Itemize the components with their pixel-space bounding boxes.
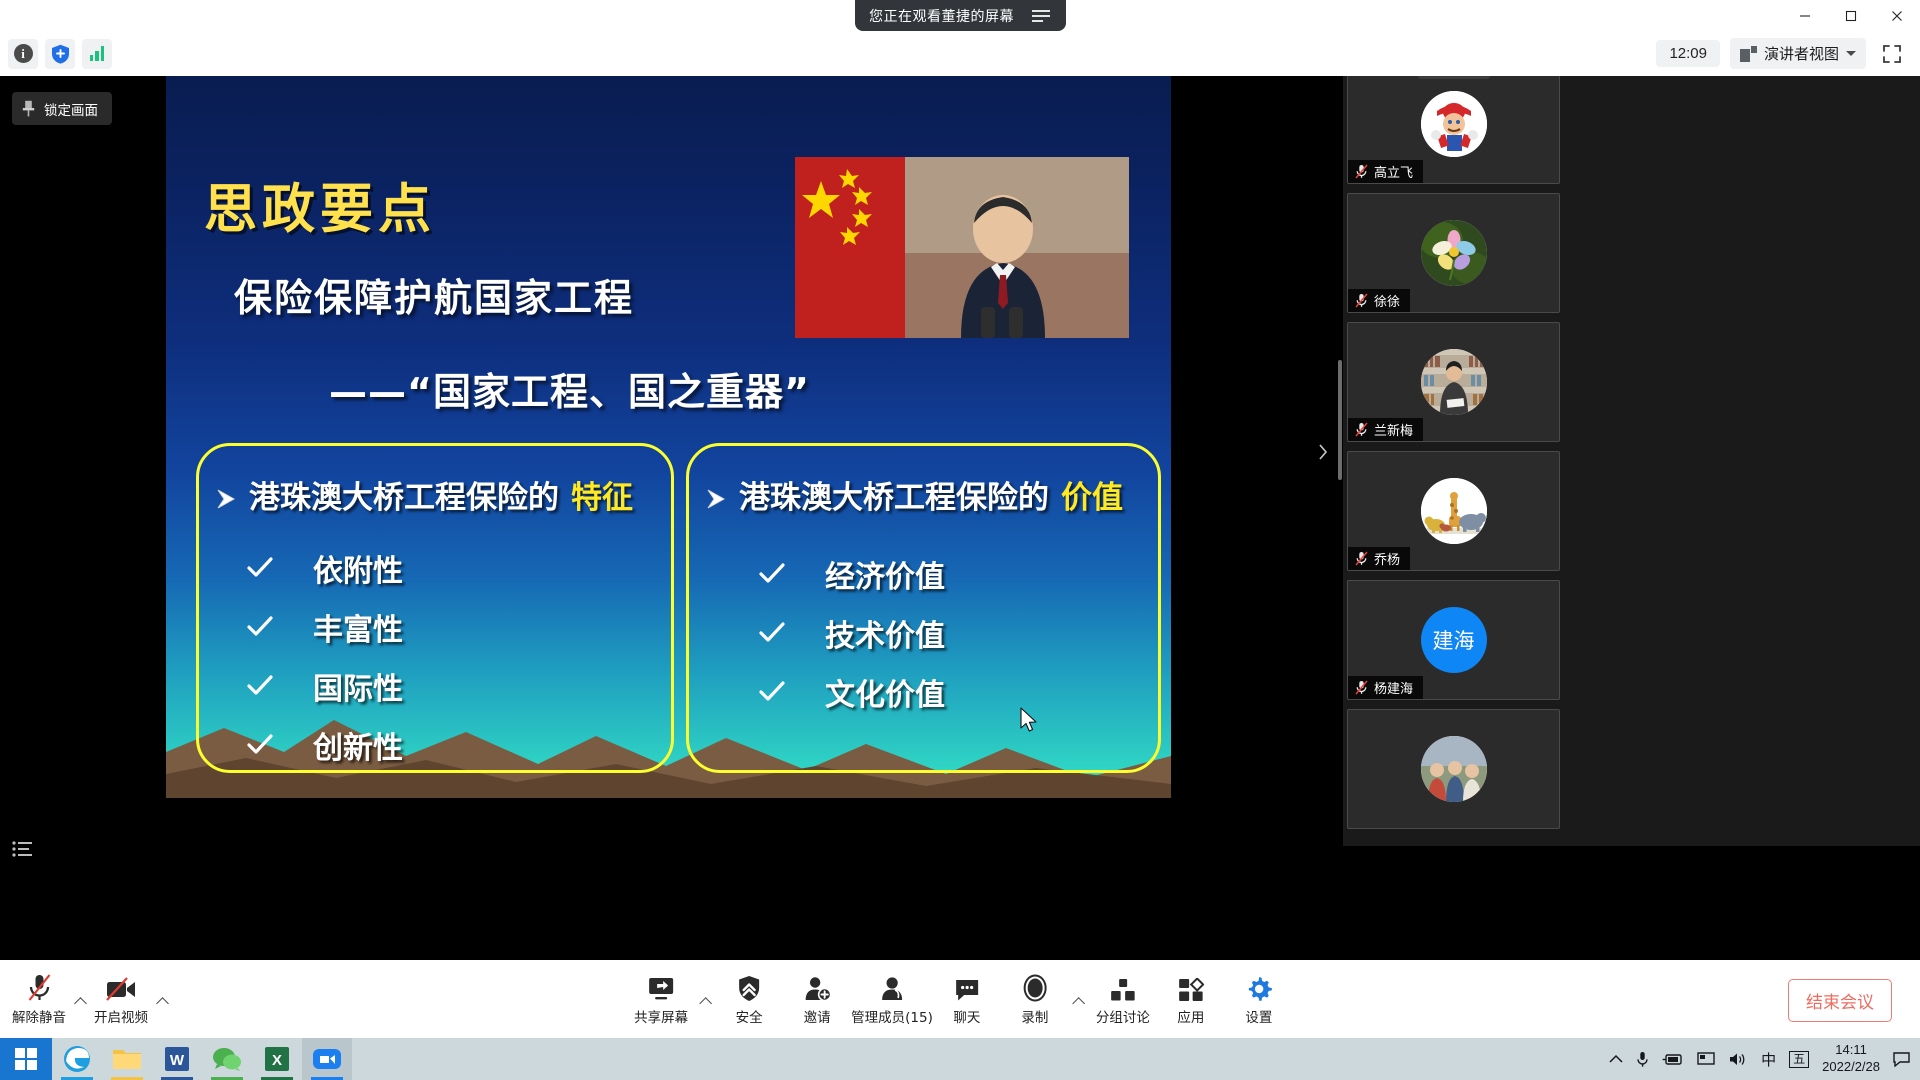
screen-share-banner: 您正在观看董捷的屏幕 [855, 0, 1066, 31]
check-icon [243, 674, 277, 698]
chevron-down-icon [1846, 51, 1856, 56]
participant-video-strip[interactable]: 高立飞 [1343, 60, 1920, 846]
box-heading-highlight: 特征 [571, 472, 633, 517]
participants-icon [879, 972, 905, 1002]
invite-label: 邀请 [804, 1006, 831, 1026]
meeting-control-bar: 解除静音 开启视频 [0, 960, 1920, 1038]
ime-mode-indicator[interactable]: 中 [1761, 1049, 1776, 1070]
box-heading: 港珠澳大桥工程保险的价值 [705, 472, 1123, 517]
check-icon [243, 733, 277, 757]
arrow-bullet-icon [705, 483, 727, 507]
group-photo-avatar [1421, 736, 1487, 802]
participant-name: 杨建海 [1374, 678, 1413, 697]
taskbar-apps: W X [52, 1038, 352, 1080]
record-label: 录制 [1021, 1006, 1048, 1026]
presentation-slide: 思政要点 保险保障护航国家工程 ——“国家工程、国之重器” [166, 63, 1171, 798]
show-hidden-icons[interactable] [1609, 1054, 1623, 1064]
participant-tile[interactable]: 建海 杨建海 [1347, 580, 1560, 700]
participant-name-badge: 杨建海 [1348, 676, 1423, 699]
participant-tile[interactable]: 乔杨 [1347, 451, 1560, 571]
svg-text:X: X [272, 1052, 282, 1069]
box-heading: 港珠澳大桥工程保险的特征 [215, 472, 633, 517]
control-bar-left: 解除静音 开启视频 [8, 968, 172, 1030]
settings-label: 设置 [1245, 1006, 1272, 1026]
participant-name-badge: 兰新梅 [1348, 418, 1423, 441]
participant-name-badge: 徐徐 [1348, 289, 1410, 312]
control-bar-center: 共享屏幕 安全 [627, 968, 1293, 1030]
share-screen-label: 共享屏幕 [634, 1006, 688, 1026]
speaker-view-icon [1740, 46, 1757, 62]
list-item-label: 创新性 [313, 723, 403, 767]
system-tray: 中 五 14:11 2022/2/28 [1609, 1042, 1920, 1076]
participant-strip-scrollbar[interactable] [1338, 360, 1342, 480]
record-options-caret[interactable] [1069, 968, 1089, 1030]
edge-icon[interactable] [52, 1038, 102, 1080]
breakout-rooms-button[interactable]: 分组讨论 [1089, 968, 1157, 1030]
invite-person-icon [804, 972, 831, 1002]
participant-tile[interactable] [1347, 709, 1560, 829]
box-heading-text: 港珠澳大桥工程保险的 [739, 472, 1049, 517]
settings-button[interactable]: 设置 [1225, 968, 1293, 1030]
gear-icon [1246, 972, 1272, 1002]
audio-options-caret[interactable] [70, 968, 90, 1030]
bookshelf-photo-avatar [1421, 349, 1487, 415]
mic-muted-icon [1355, 164, 1368, 179]
manage-participants-label: 管理成员(15) [851, 1006, 933, 1026]
invite-button[interactable]: 邀请 [783, 968, 851, 1030]
meeting-timer[interactable]: 12:09 [1656, 40, 1720, 67]
box-item-list: 经济价值 技术价值 文化价值 [755, 544, 945, 721]
shield-plus-icon[interactable] [45, 39, 75, 69]
apps-button[interactable]: 应用 [1157, 968, 1225, 1030]
mic-muted-icon [26, 972, 53, 1002]
fullscreen-icon[interactable] [1876, 39, 1908, 69]
minimize-icon[interactable] [1782, 0, 1828, 31]
ime-layout-indicator[interactable]: 五 [1789, 1051, 1809, 1068]
taskbar-clock[interactable]: 14:11 2022/2/28 [1822, 1042, 1880, 1076]
check-icon [755, 680, 789, 704]
chevron-up-icon [156, 997, 169, 1010]
start-video-label: 开启视频 [94, 1006, 148, 1026]
start-video-button[interactable]: 开启视频 [90, 968, 152, 1030]
security-button[interactable]: 安全 [715, 968, 783, 1030]
pin-icon [22, 100, 35, 117]
info-icon[interactable]: i [8, 39, 38, 69]
close-icon[interactable] [1874, 0, 1920, 31]
microphone-icon[interactable] [1636, 1051, 1649, 1068]
network-bars-icon[interactable] [82, 39, 112, 69]
excel-icon[interactable]: X [252, 1038, 302, 1080]
mic-muted-icon [1355, 422, 1368, 437]
share-banner-text: 您正在观看董捷的屏幕 [869, 6, 1014, 26]
share-options-caret[interactable] [695, 968, 715, 1030]
wechat-icon[interactable] [202, 1038, 252, 1080]
zoom-meeting-window: 您正在观看董捷的屏幕 i 12:09 [0, 0, 1920, 1080]
list-item: 经济价值 [755, 544, 945, 603]
hamburger-icon[interactable] [1020, 0, 1062, 31]
action-center-icon[interactable] [1893, 1052, 1910, 1067]
list-item-label: 文化价值 [825, 670, 945, 714]
chevron-right-icon[interactable] [1316, 432, 1330, 472]
slide-box-value: 港珠澳大桥工程保险的价值 经济价值 技术价值 [686, 443, 1161, 773]
list-item-label: 技术价值 [825, 611, 945, 655]
box-heading-text: 港珠澳大桥工程保险的 [249, 472, 559, 517]
info-glyph: i [14, 44, 33, 63]
zoom-icon[interactable] [302, 1038, 352, 1080]
display-icon[interactable] [1697, 1052, 1715, 1067]
check-icon [755, 562, 789, 586]
mic-muted-icon [1355, 293, 1368, 308]
view-mode-label: 演讲者视图 [1764, 43, 1839, 64]
battery-icon[interactable] [1662, 1053, 1684, 1066]
mic-muted-icon [1355, 551, 1368, 566]
breakout-rooms-label: 分组讨论 [1096, 1006, 1150, 1026]
participant-name: 徐徐 [1374, 291, 1400, 310]
video-options-caret[interactable] [152, 968, 172, 1030]
participant-name: 兰新梅 [1374, 420, 1413, 439]
chat-label: 聊天 [953, 1006, 980, 1026]
list-item: 国际性 [243, 656, 403, 715]
participant-name-badge: 高立飞 [1348, 160, 1423, 183]
meeting-top-toolbar: i 12:09 演讲者视图 [0, 31, 1920, 76]
box-heading-highlight: 价值 [1061, 472, 1123, 517]
clock-time: 14:11 [1822, 1042, 1880, 1059]
slide-box-features: 港珠澳大桥工程保险的特征 依附性 丰富性 [196, 443, 674, 773]
slide-content: 思政要点 保险保障护航国家工程 ——“国家工程、国之重器” [166, 63, 1171, 798]
apps-icon [1178, 972, 1204, 1002]
list-item: 技术价值 [755, 603, 945, 662]
window-controls [1782, 0, 1920, 31]
end-meeting-button[interactable]: 结束会议 [1788, 979, 1892, 1022]
record-button[interactable]: 录制 [1001, 968, 1069, 1030]
arrow-bullet-icon [215, 483, 237, 507]
list-item: 丰富性 [243, 597, 403, 656]
lock-screen-button[interactable]: 锁定画面 [12, 92, 112, 125]
participant-tile[interactable]: 高立飞 [1347, 64, 1560, 184]
top-toolbar-left: i [0, 39, 112, 69]
list-item: 创新性 [243, 715, 403, 774]
windows-taskbar: W X [0, 1038, 1920, 1080]
breakout-rooms-icon [1110, 972, 1136, 1002]
file-explorer-icon[interactable] [102, 1038, 152, 1080]
flower-avatar [1421, 220, 1487, 286]
share-screen-button[interactable]: 共享屏幕 [627, 968, 695, 1030]
lock-screen-label: 锁定画面 [44, 99, 98, 119]
windows-start-icon[interactable] [0, 1038, 52, 1080]
volume-icon[interactable] [1728, 1052, 1748, 1067]
mic-muted-icon [1355, 680, 1368, 695]
list-item: 依附性 [243, 538, 403, 597]
list-icon[interactable] [10, 836, 36, 862]
participant-name: 乔杨 [1374, 549, 1400, 568]
chevron-up-icon [74, 997, 87, 1010]
check-icon [243, 556, 277, 580]
participant-name-badge: 乔杨 [1348, 547, 1410, 570]
video-off-icon [105, 972, 137, 1002]
chevron-up-icon [699, 997, 712, 1010]
mario-avatar [1421, 91, 1487, 157]
word-icon[interactable]: W [152, 1038, 202, 1080]
apps-label: 应用 [1177, 1006, 1204, 1026]
participant-tile[interactable]: 徐徐 [1347, 193, 1560, 313]
record-icon [1022, 972, 1048, 1002]
slide-boxes: 港珠澳大桥工程保险的特征 依附性 丰富性 [166, 63, 1171, 798]
box-item-list: 依附性 丰富性 国际性 [243, 538, 403, 774]
unmute-button[interactable]: 解除静音 [8, 968, 70, 1030]
check-icon [243, 615, 277, 639]
unmute-label: 解除静音 [12, 1006, 66, 1026]
avatar-initials: 建海 [1433, 625, 1475, 655]
svg-text:W: W [170, 1052, 185, 1069]
view-mode-dropdown[interactable]: 演讲者视图 [1730, 38, 1866, 69]
maximize-icon[interactable] [1828, 0, 1874, 31]
list-item-label: 国际性 [313, 664, 403, 708]
list-item-label: 经济价值 [825, 552, 945, 596]
top-toolbar-right: 12:09 演讲者视图 [1656, 38, 1920, 69]
animals-avatar [1421, 478, 1487, 544]
mouse-cursor [1020, 707, 1038, 738]
share-screen-icon [646, 972, 676, 1002]
participant-name: 高立飞 [1374, 162, 1413, 181]
check-icon [755, 621, 789, 645]
participant-tile[interactable]: 兰新梅 [1347, 322, 1560, 442]
manage-participants-button[interactable]: 管理成员(15) [851, 968, 933, 1030]
clock-date: 2022/2/28 [1822, 1059, 1880, 1076]
security-label: 安全 [736, 1006, 763, 1026]
chat-bubble-icon [954, 972, 980, 1002]
security-shield-icon [737, 972, 761, 1002]
chat-button[interactable]: 聊天 [933, 968, 1001, 1030]
initials-avatar: 建海 [1421, 607, 1487, 673]
list-item-label: 丰富性 [313, 605, 403, 649]
list-item: 文化价值 [755, 662, 945, 721]
chevron-up-icon [1072, 997, 1085, 1010]
list-item-label: 依附性 [313, 546, 403, 590]
